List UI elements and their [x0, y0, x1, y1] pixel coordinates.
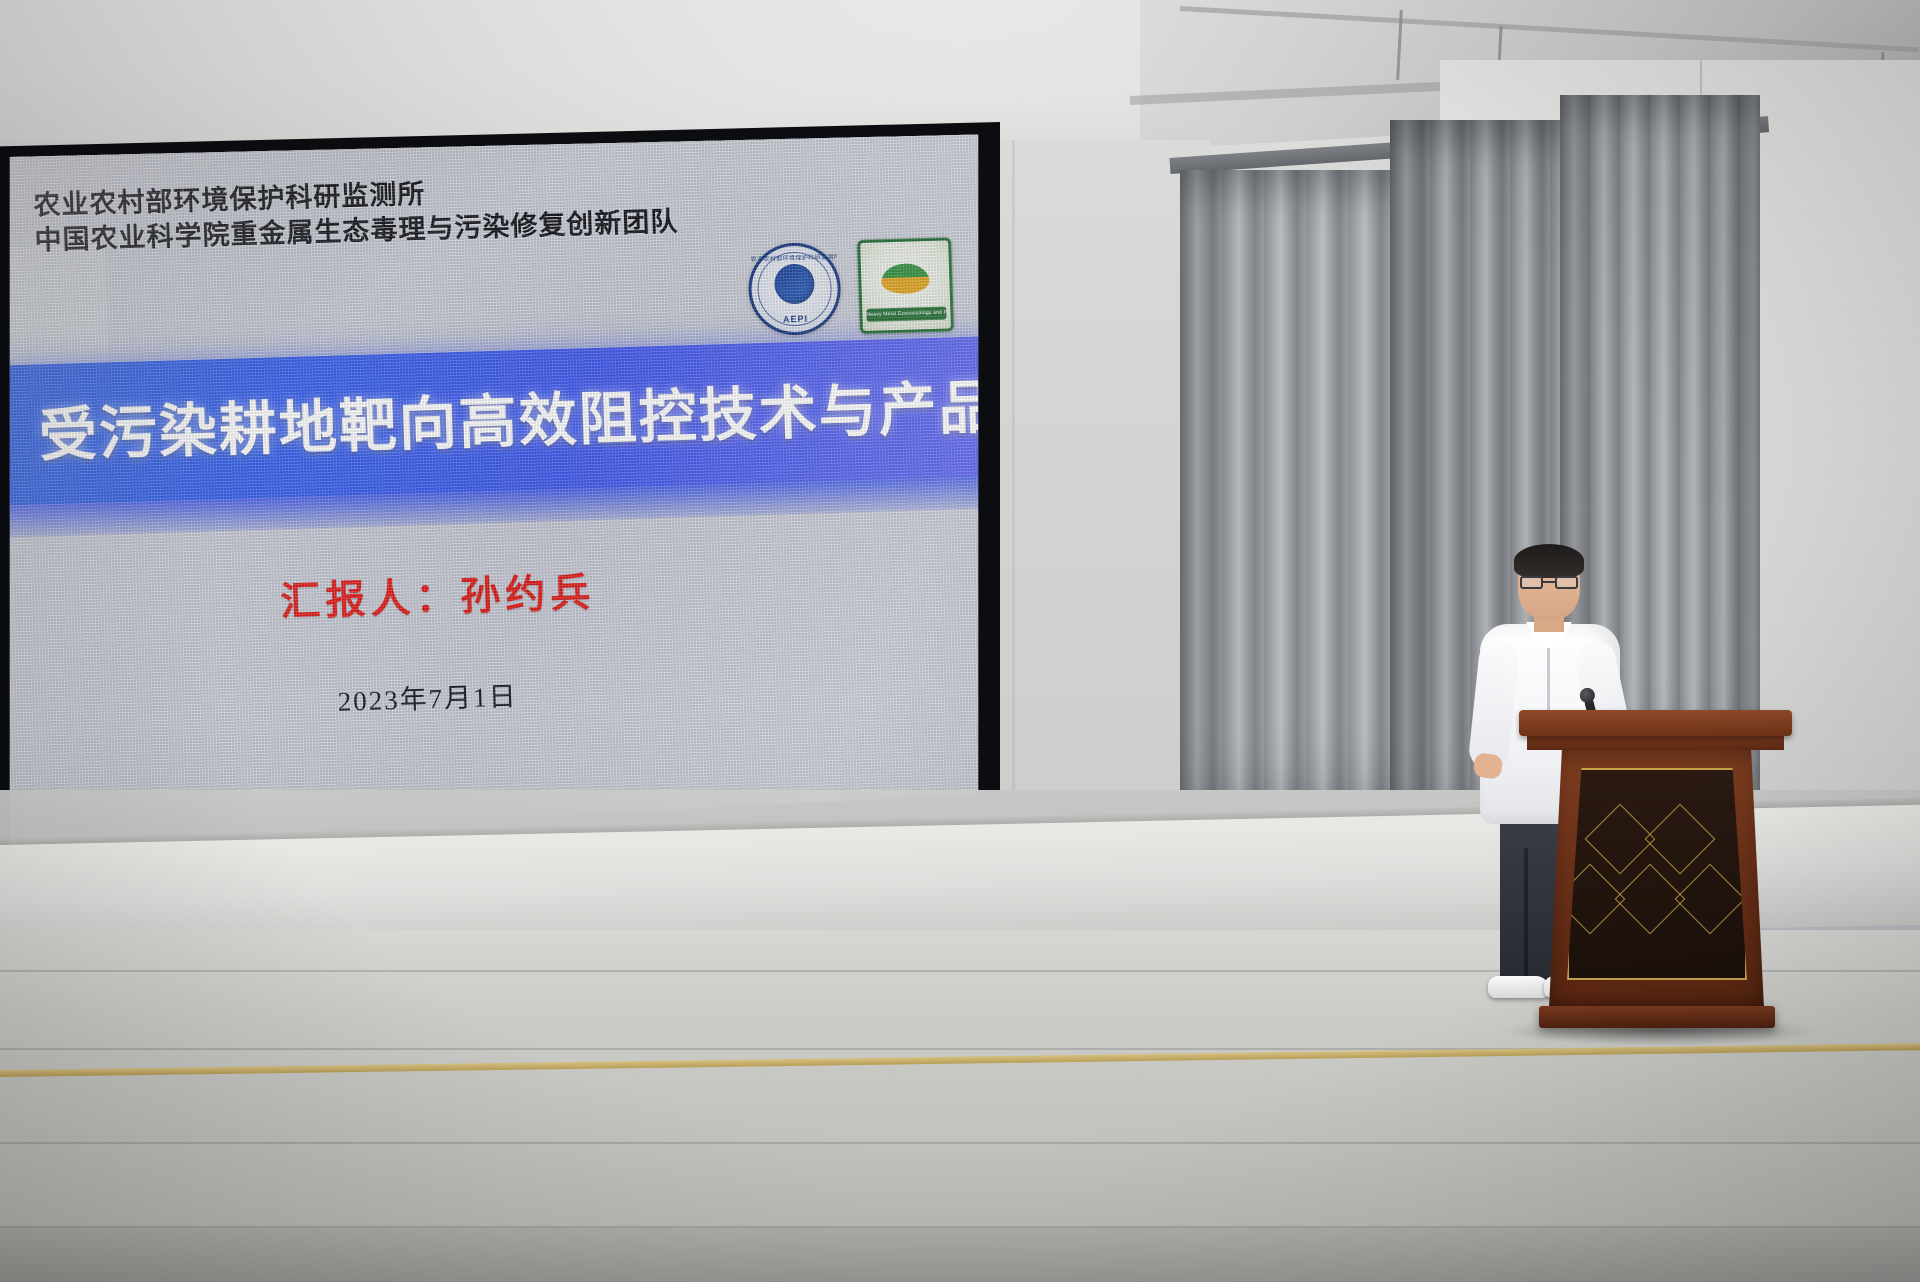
aepi-seal-logo-icon: 农业农村部环境保护科研监测所 AEPI: [747, 242, 842, 337]
podium-base: [1539, 1006, 1775, 1028]
floor-seam: [0, 1142, 1920, 1144]
floor-foreground-band: [0, 1228, 1920, 1282]
podium-lattice: [1645, 804, 1716, 875]
aepi-logo-abbr: AEPI: [752, 313, 838, 326]
aepi-logo-core: [774, 263, 815, 304]
presenter-leg-split: [1524, 848, 1528, 984]
wall-seam: [1012, 140, 1015, 860]
conference-hall-scene: 农业农村部环境保护科研监测所 中国农业科学院重金属生态毒理与污染修复创新团队 农…: [0, 0, 1920, 1282]
screen-surface: 农业农村部环境保护科研监测所 中国农业科学院重金属生态毒理与污染修复创新团队 农…: [4, 128, 984, 852]
innovation-team-logo-icon: Heavy Metal Ecotoxicology and Pollution …: [857, 237, 954, 334]
presentation-slide: 农业农村部环境保护科研监测所 中国农业科学院重金属生态毒理与污染修复创新团队 农…: [4, 128, 984, 852]
presenter-shirt-placket: [1547, 644, 1550, 714]
podium-lattice: [1675, 864, 1746, 935]
logo-field-graphic: [881, 263, 930, 294]
presenter-hair: [1514, 544, 1584, 578]
podium-front-panel: [1567, 768, 1747, 980]
glasses-icon: [1520, 576, 1578, 589]
podium: [1533, 710, 1778, 1030]
led-screen[interactable]: 农业农村部环境保护科研监测所 中国农业科学院重金属生态毒理与污染修复创新团队 农…: [0, 122, 1000, 882]
slide-logo-group: 农业农村部环境保护科研监测所 AEPI Heavy Metal Ecotoxic…: [747, 237, 954, 337]
podium-top-underside: [1527, 734, 1784, 750]
podium-top-surface: [1519, 710, 1792, 736]
slide-date: 2023年7月1日: [337, 674, 518, 718]
aepi-logo-ring-text: 农业农村部环境保护科研监测所: [750, 252, 836, 264]
slide-presenter: 汇报人：孙约兵: [279, 560, 596, 627]
innovation-team-logo-band-text: Heavy Metal Ecotoxicology and Pollution …: [866, 306, 946, 321]
